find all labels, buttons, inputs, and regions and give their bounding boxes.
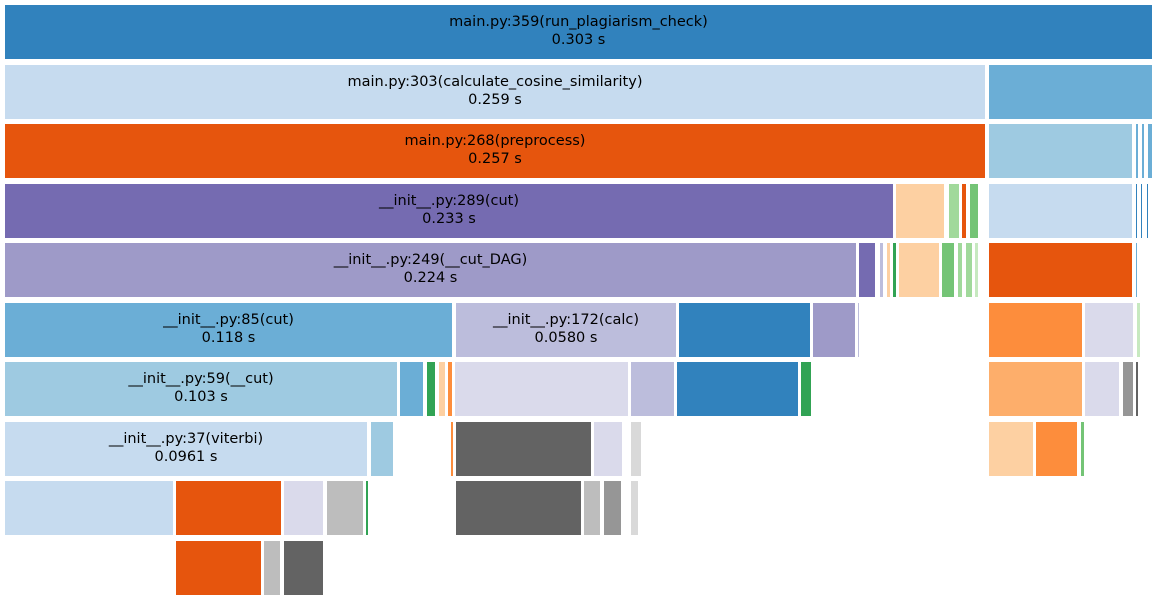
flame-block[interactable]	[1135, 183, 1138, 239]
flame-row-depth-8	[0, 480, 1157, 537]
flame-block-function-label: __init__.py:172(calc)	[493, 312, 639, 330]
flame-graph-canvas[interactable]: main.py:359(run_plagiarism_check)0.303 s…	[0, 0, 1157, 600]
flame-block-frame[interactable]: __init__.py:289(cut)0.233 s	[4, 183, 894, 239]
flame-block[interactable]	[879, 242, 884, 298]
flame-block[interactable]	[812, 302, 856, 358]
flame-block[interactable]	[961, 183, 967, 239]
flame-block-time-label: 0.118 s	[202, 330, 256, 348]
flame-block-function-label: __init__.py:289(cut)	[379, 193, 519, 211]
flame-block[interactable]	[988, 302, 1083, 358]
flame-block-frame[interactable]: __init__.py:249(__cut_DAG)0.224 s	[4, 242, 857, 298]
flame-block[interactable]	[399, 361, 424, 417]
flame-block-time-label: 0.0961 s	[155, 449, 218, 467]
flame-block[interactable]	[1141, 123, 1145, 179]
flame-block[interactable]	[678, 302, 811, 358]
flame-block-frame[interactable]: __init__.py:59(__cut)0.103 s	[4, 361, 398, 417]
flame-block-time-label: 0.233 s	[422, 211, 476, 229]
flame-block[interactable]	[583, 480, 601, 536]
flame-block[interactable]	[593, 421, 623, 477]
flame-block[interactable]	[1084, 302, 1134, 358]
flame-block[interactable]	[447, 361, 453, 417]
flame-row-depth-2: main.py:268(preprocess)0.257 s	[0, 123, 1157, 180]
flame-block[interactable]	[1140, 183, 1143, 239]
flame-block[interactable]	[898, 242, 940, 298]
flame-block[interactable]	[1146, 183, 1149, 239]
flame-block[interactable]	[4, 480, 174, 536]
flame-block[interactable]	[1122, 361, 1134, 417]
flame-row-depth-4: __init__.py:249(__cut_DAG)0.224 s	[0, 242, 1157, 299]
flame-block[interactable]	[988, 421, 1034, 477]
flame-block[interactable]	[857, 302, 860, 358]
flame-block[interactable]	[283, 480, 324, 536]
flame-block-time-label: 0.259 s	[468, 92, 522, 110]
flame-block[interactable]	[175, 480, 282, 536]
flame-block[interactable]	[1035, 421, 1078, 477]
flame-block[interactable]	[175, 540, 262, 596]
flame-block[interactable]	[1136, 302, 1141, 358]
flame-block[interactable]	[941, 242, 955, 298]
flame-row-depth-6: __init__.py:59(__cut)0.103 s	[0, 361, 1157, 418]
flame-row-depth-7: __init__.py:37(viterbi)0.0961 s	[0, 421, 1157, 478]
flame-row-depth-1: main.py:303(calculate_cosine_similarity)…	[0, 64, 1157, 121]
flame-block[interactable]	[1151, 183, 1153, 239]
flame-block[interactable]	[858, 242, 876, 298]
flame-row-depth-5: __init__.py:85(cut)0.118 s__init__.py:17…	[0, 302, 1157, 359]
flame-block[interactable]	[800, 361, 812, 417]
flame-block-function-label: main.py:303(calculate_cosine_similarity)	[348, 74, 643, 92]
flame-block[interactable]	[1084, 361, 1120, 417]
flame-block[interactable]	[988, 242, 1133, 298]
flame-block[interactable]	[974, 242, 979, 298]
flame-block-frame[interactable]: __init__.py:37(viterbi)0.0961 s	[4, 421, 368, 477]
flame-block[interactable]	[365, 480, 369, 536]
flame-block[interactable]	[969, 183, 979, 239]
flame-block[interactable]	[450, 421, 454, 477]
flame-block[interactable]	[630, 421, 642, 477]
flame-block-function-label: __init__.py:37(viterbi)	[109, 431, 263, 449]
flame-block-frame[interactable]: main.py:359(run_plagiarism_check)0.303 s	[4, 4, 1153, 60]
flame-block[interactable]	[1147, 123, 1153, 179]
flame-block[interactable]	[895, 183, 945, 239]
flame-block[interactable]	[1135, 242, 1138, 298]
flame-block[interactable]	[1135, 361, 1139, 417]
flame-block[interactable]	[988, 64, 1153, 120]
flame-block[interactable]	[988, 123, 1133, 179]
flame-block[interactable]	[455, 421, 592, 477]
flame-block[interactable]	[283, 540, 324, 596]
flame-block[interactable]	[892, 242, 897, 298]
flame-block-time-label: 0.0580 s	[535, 330, 598, 348]
flame-block[interactable]	[630, 361, 675, 417]
flame-block-time-label: 0.303 s	[552, 32, 606, 50]
flame-block-time-label: 0.103 s	[174, 389, 228, 407]
flame-block-time-label: 0.224 s	[404, 270, 458, 288]
flame-block[interactable]	[948, 183, 960, 239]
flame-block[interactable]	[965, 242, 973, 298]
flame-block[interactable]	[1080, 421, 1085, 477]
flame-block[interactable]	[326, 480, 364, 536]
flame-block-function-label: __init__.py:85(cut)	[163, 312, 294, 330]
flame-block[interactable]	[630, 480, 639, 536]
flame-block[interactable]	[455, 480, 582, 536]
flame-block-frame[interactable]: __init__.py:85(cut)0.118 s	[4, 302, 453, 358]
flame-block-frame[interactable]: __init__.py:172(calc)0.0580 s	[455, 302, 677, 358]
flame-row-depth-9	[0, 540, 1157, 597]
flame-block-function-label: __init__.py:249(__cut_DAG)	[334, 252, 528, 270]
flame-block[interactable]	[438, 361, 446, 417]
flame-block-function-label: __init__.py:59(__cut)	[128, 371, 273, 389]
flame-block[interactable]	[886, 242, 891, 298]
flame-row-depth-0: main.py:359(run_plagiarism_check)0.303 s	[0, 4, 1157, 61]
flame-block-frame[interactable]: main.py:303(calculate_cosine_similarity)…	[4, 64, 986, 120]
flame-block-function-label: main.py:359(run_plagiarism_check)	[449, 14, 708, 32]
flame-block[interactable]	[676, 361, 799, 417]
flame-block[interactable]	[988, 361, 1083, 417]
flame-block[interactable]	[957, 242, 963, 298]
flame-block[interactable]	[988, 183, 1133, 239]
flame-block-time-label: 0.257 s	[468, 151, 522, 169]
flame-block[interactable]	[454, 361, 629, 417]
flame-row-depth-3: __init__.py:289(cut)0.233 s	[0, 183, 1157, 240]
flame-block[interactable]	[1135, 123, 1139, 179]
flame-block[interactable]	[603, 480, 622, 536]
flame-block-function-label: main.py:268(preprocess)	[405, 133, 586, 151]
flame-block-frame[interactable]: main.py:268(preprocess)0.257 s	[4, 123, 986, 179]
flame-block[interactable]	[426, 361, 436, 417]
flame-block[interactable]	[263, 540, 281, 596]
flame-block[interactable]	[370, 421, 394, 477]
